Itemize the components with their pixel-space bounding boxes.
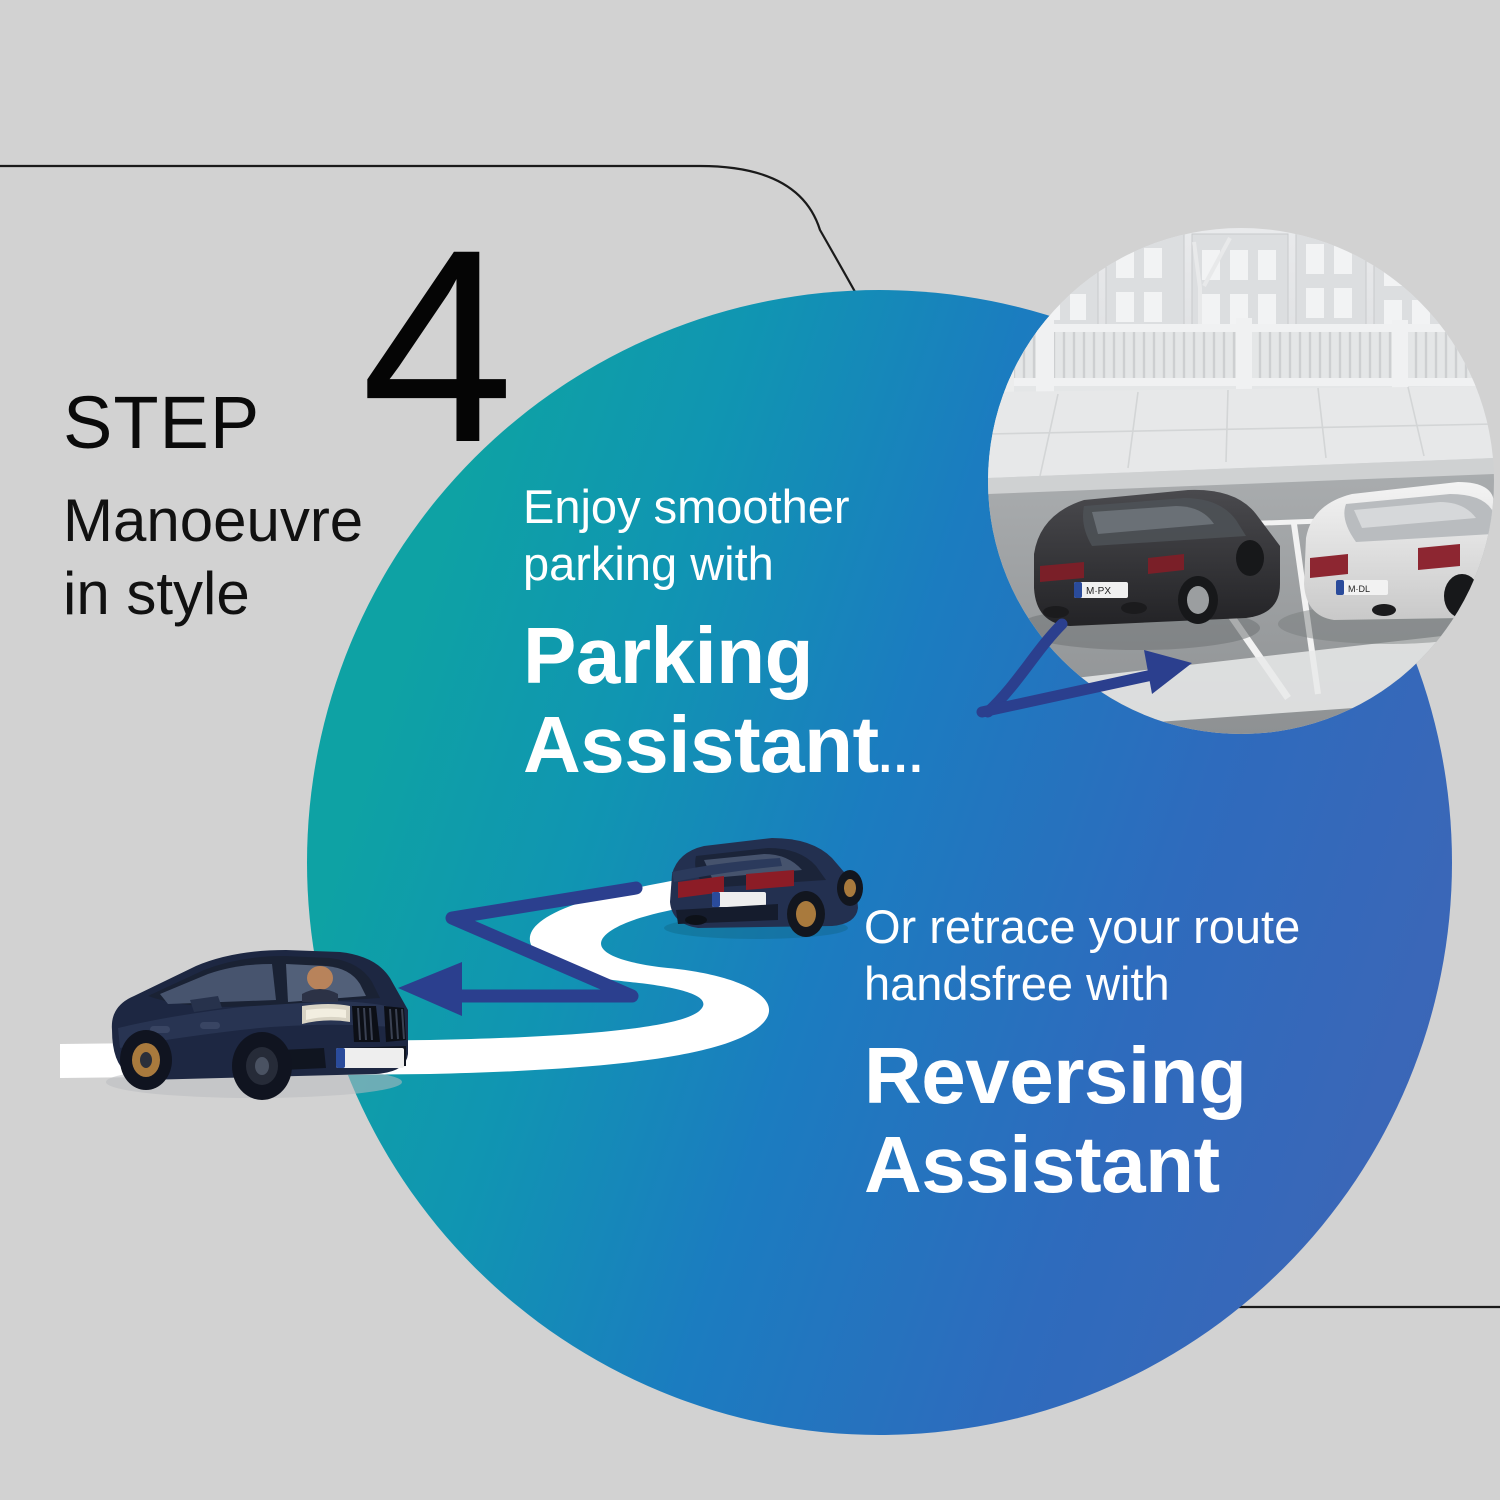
parking-headline: Parking Assistant...	[523, 611, 993, 790]
infographic-canvas: M·PX M·DL	[0, 0, 1500, 1500]
step-header: STEP 4 Manoeuvre in style	[63, 300, 493, 630]
step-subtitle: Manoeuvre in style	[63, 484, 493, 630]
parking-photo-circle: M·PX M·DL	[988, 228, 1494, 734]
reversing-lead-text: Or retrace your route handsfree with	[864, 898, 1334, 1013]
step-label: STEP	[63, 386, 260, 460]
feature-parking-assistant: Enjoy smoother parking with Parking Assi…	[523, 478, 993, 790]
feature-reversing-assistant: Or retrace your route handsfree with Rev…	[864, 898, 1334, 1210]
parking-ellipsis: ...	[879, 730, 925, 783]
step-row: STEP 4	[63, 300, 493, 460]
parking-headline-text: Parking Assistant	[523, 611, 879, 790]
step-number: 4	[361, 209, 514, 484]
parking-lead-text: Enjoy smoother parking with	[523, 478, 993, 593]
svg-text:M·DL: M·DL	[1348, 584, 1370, 594]
reversing-headline: Reversing Assistant	[864, 1031, 1334, 1210]
parking-photo-illustration: M·PX M·DL	[988, 228, 1494, 734]
svg-text:M·PX: M·PX	[1086, 586, 1111, 597]
reversing-headline-text: Reversing Assistant	[864, 1031, 1246, 1210]
